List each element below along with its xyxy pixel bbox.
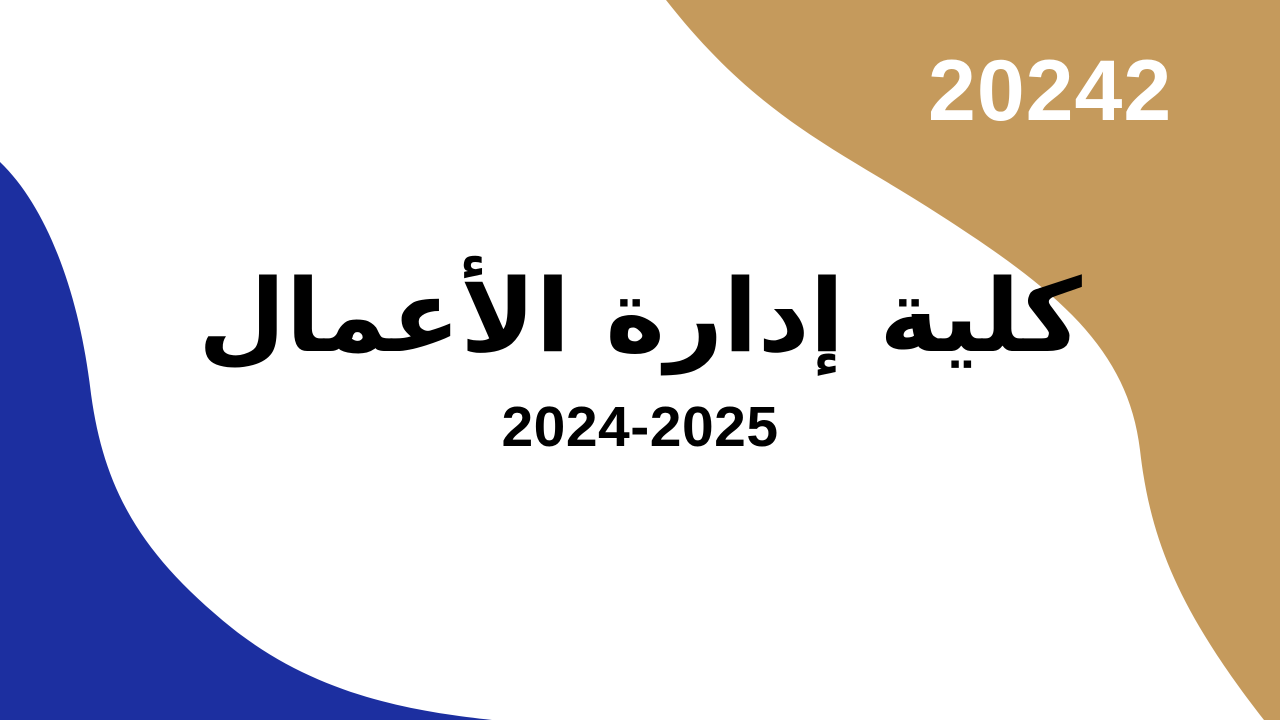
corner-number-label: 20242 (928, 48, 1192, 134)
title-block: كلية إدارة الأعمال 2024-2025 (0, 255, 1280, 459)
slide-canvas: 20242 كلية إدارة الأعمال 2024-2025 (0, 0, 1280, 720)
academic-year-subtitle: 2024-2025 (0, 396, 1280, 459)
page-title: كلية إدارة الأعمال (0, 255, 1280, 378)
